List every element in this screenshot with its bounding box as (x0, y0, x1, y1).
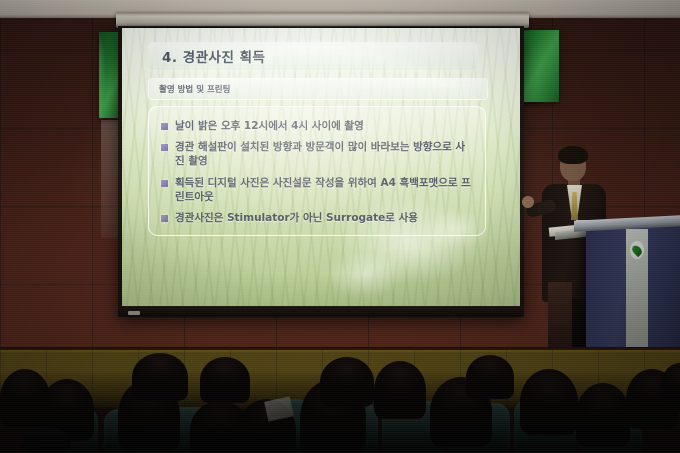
audience (0, 352, 680, 453)
slide-subtitle-box: 촬영 방법 및 프린팅 (148, 78, 488, 100)
square-bullet-icon (161, 215, 168, 222)
slide-content: 4. 경관사진 획득 촬영 방법 및 프린팅 날이 밝은 오후 12시에서 4시… (122, 28, 520, 308)
slide-subtitle: 촬영 방법 및 프린팅 (149, 83, 230, 95)
audience-member (320, 357, 374, 407)
audience-member (132, 353, 188, 401)
square-bullet-icon (161, 180, 168, 187)
audience-member (520, 369, 578, 435)
slide-bullet-list: 날이 밝은 오후 12시에서 4시 사이에 촬영 경관 해설판이 설치된 방향과… (148, 106, 486, 236)
square-bullet-icon (161, 144, 168, 151)
list-item: 경관 해설판이 설치된 방향과 방문객이 많이 바라보는 방향으로 사진 촬영 (161, 140, 473, 168)
bullet-text: 날이 밝은 오후 12시에서 4시 사이에 촬영 (175, 119, 364, 133)
audience-member (200, 357, 250, 403)
audience-cap (24, 427, 70, 453)
green-leaf-logo-icon (630, 241, 644, 259)
projector-screen-surface: 4. 경관사진 획득 촬영 방법 및 프린팅 날이 밝은 오후 12시에서 4시… (122, 28, 520, 308)
audience-member (374, 361, 426, 419)
audience-member (576, 383, 630, 447)
audience-member (190, 401, 250, 453)
bullet-text: 획득된 디지털 사진은 사진설문 작성을 위하여 A4 흑백포맷으로 프린트아웃 (175, 176, 473, 204)
speaker-hair (558, 146, 588, 164)
list-item: 경관사진은 Stimulator가 아닌 Surrogate로 사용 (161, 211, 473, 225)
slide-title-box: 4. 경관사진 획득 (148, 42, 478, 70)
leaf-shape (630, 243, 643, 256)
cap-brim (18, 444, 38, 451)
slide-title: 4. 경관사진 획득 (148, 46, 265, 66)
list-item: 획득된 디지털 사진은 사진설문 작성을 위하여 A4 흑백포맷으로 프린트아웃 (161, 176, 473, 204)
audience-member (466, 355, 514, 399)
audience-member (0, 369, 50, 427)
audience-member (660, 363, 680, 413)
screen-pull-tab (128, 311, 140, 315)
bullet-text: 경관 해설판이 설치된 방향과 방문객이 많이 바라보는 방향으로 사진 촬영 (175, 140, 473, 168)
podium (586, 225, 680, 363)
list-item: 날이 밝은 오후 12시에서 4시 사이에 촬영 (161, 119, 473, 133)
speaker-hand (522, 196, 534, 208)
square-bullet-icon (161, 123, 168, 130)
side-table (548, 282, 572, 348)
bullet-text: 경관사진은 Stimulator가 아닌 Surrogate로 사용 (175, 211, 418, 225)
screen-bottom-bar (118, 306, 524, 317)
presentation-photo-scene: 전 4. 경관사진 획득 촬영 방법 및 프린팅 날이 밝은 오후 12시에서 … (0, 0, 680, 453)
